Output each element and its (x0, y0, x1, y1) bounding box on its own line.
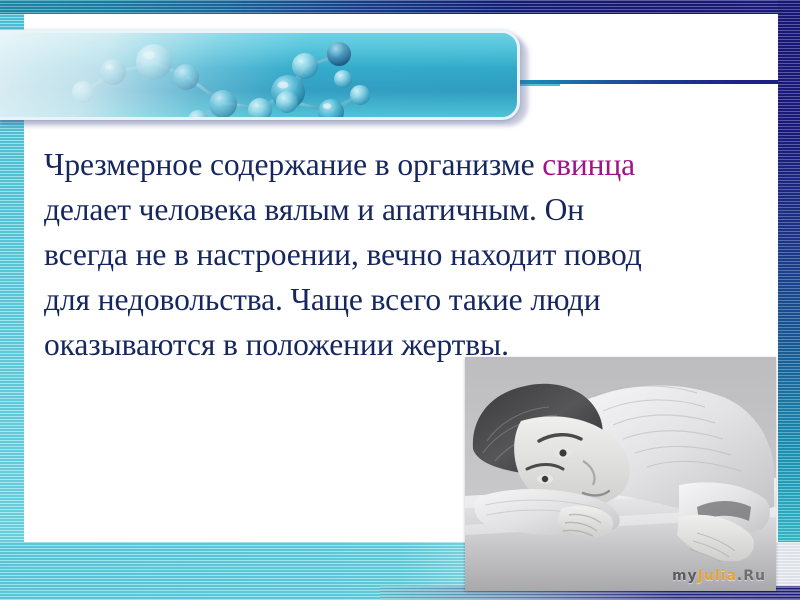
apathetic-person-photo: myJulia.Ru (465, 357, 776, 591)
photo-illustration (465, 357, 776, 591)
watermark-brand: Julia (698, 568, 737, 584)
watermark-prefix: my (672, 568, 698, 584)
text-line-4: для недовольства. Чаще всего такие люди (44, 282, 600, 317)
top-striped-band (0, 0, 800, 14)
horizontal-accent-rule (500, 80, 798, 84)
molecule-banner (0, 30, 520, 120)
highlight-word-lead: свинца (542, 147, 635, 182)
banner-gloss-overlay (0, 33, 517, 68)
photo-watermark: myJulia.Ru (672, 568, 766, 584)
slide-body-text: Чрезмерное содержание в организме свинца… (44, 142, 744, 367)
text-line-2: делает человека вялым и апатичным. Он (44, 192, 584, 227)
text-line-1: Чрезмерное содержание в организме (44, 147, 542, 182)
text-line-3: всегда не в настроении, вечно находит по… (44, 237, 642, 272)
presentation-slide: Чрезмерное содержание в организме свинца… (0, 0, 800, 600)
watermark-suffix: .Ru (737, 568, 766, 584)
right-striped-band (778, 0, 800, 600)
text-line-5: оказываются в положении жертвы. (44, 327, 509, 362)
